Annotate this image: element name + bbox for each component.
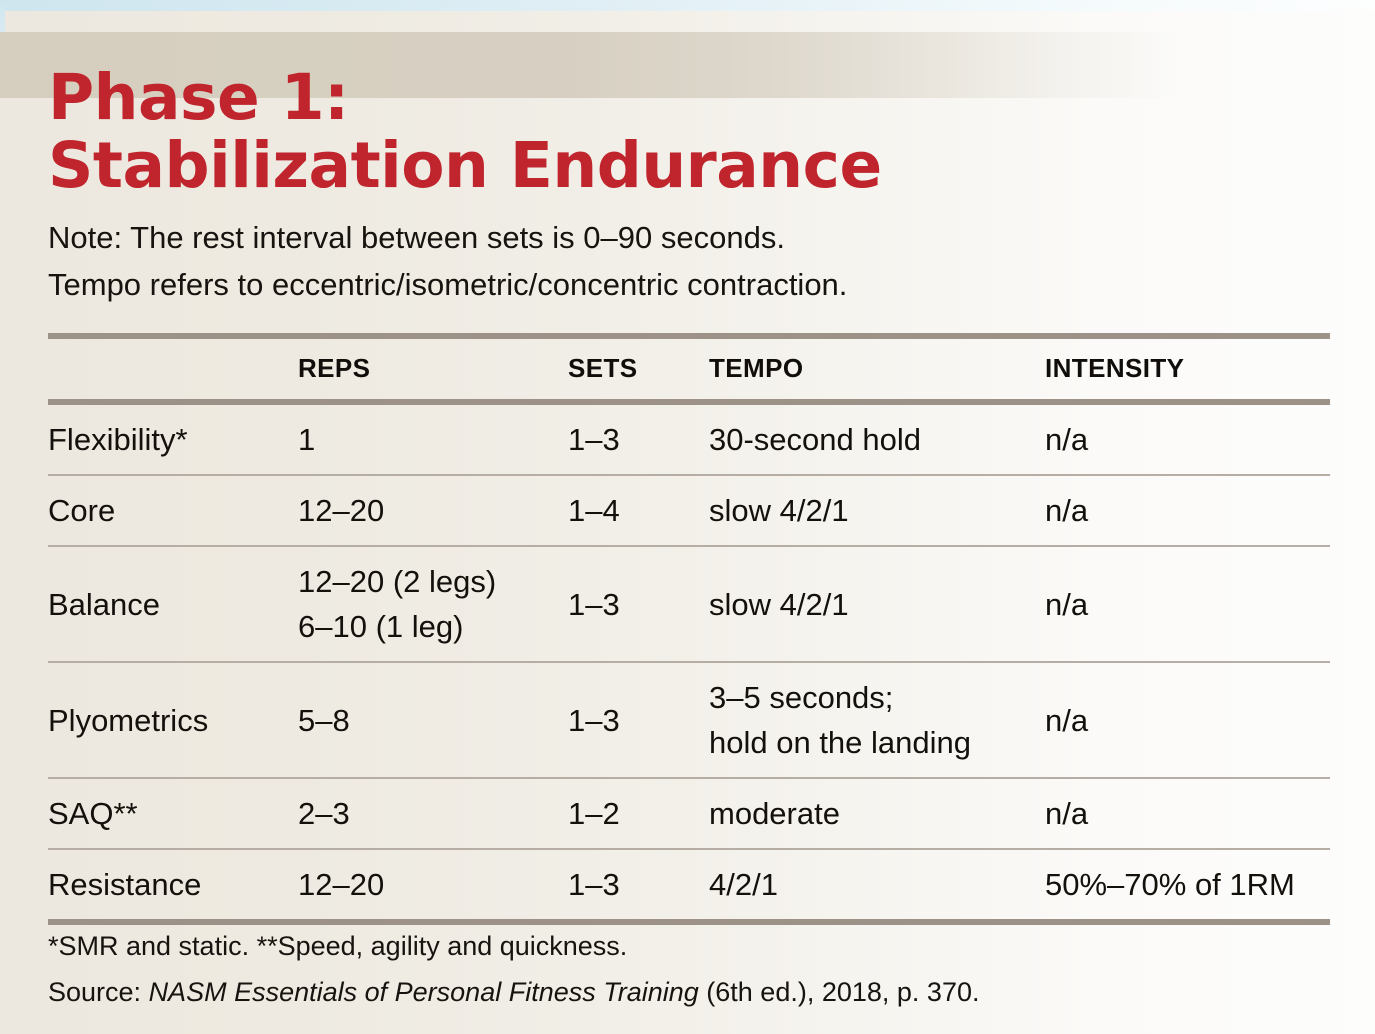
cell-reps-line: 2–3 (298, 791, 568, 836)
cell-intensity: n/a (1045, 475, 1330, 546)
cell-sets: 1–3 (568, 662, 709, 778)
note-line-1: Note: The rest interval between sets is … (48, 214, 1298, 261)
cell-reps-line: 12–20 (2 legs) (298, 559, 568, 604)
column-header-intensity: INTENSITY (1045, 336, 1330, 402)
cell-category: Plyometrics (48, 662, 298, 778)
cell-reps-line: 1 (298, 417, 568, 462)
program-table-wrapper: REPS SETS TEMPO INTENSITY Flexibility* 1… (48, 333, 1330, 925)
cell-category: Core (48, 475, 298, 546)
cell-tempo: 3–5 seconds; hold on the landing (709, 662, 1045, 778)
cell-tempo-line: slow 4/2/1 (709, 582, 1045, 627)
notes-block: Note: The rest interval between sets is … (48, 214, 1298, 308)
title-line-1: Phase 1: (48, 64, 1248, 132)
cell-reps: 1 (298, 402, 568, 475)
cell-tempo-line: moderate (709, 791, 1045, 836)
source-suffix: (6th ed.), 2018, p. 370. (699, 977, 980, 1007)
cell-tempo-line: slow 4/2/1 (709, 488, 1045, 533)
column-header-category (48, 336, 298, 402)
cell-tempo-line: 30-second hold (709, 417, 1045, 462)
cell-intensity: n/a (1045, 778, 1330, 849)
note-line-2: Tempo refers to eccentric/isometric/conc… (48, 261, 1298, 308)
footnotes-block: *SMR and static. **Speed, agility and qu… (48, 923, 1298, 1015)
cell-reps-line: 12–20 (298, 862, 568, 907)
cell-reps: 2–3 (298, 778, 568, 849)
cell-sets: 1–2 (568, 778, 709, 849)
cell-intensity: 50%–70% of 1RM (1045, 849, 1330, 922)
title-line-2: Stabilization Endurance (48, 132, 1248, 200)
cell-reps: 12–20 (298, 849, 568, 922)
cell-intensity: n/a (1045, 402, 1330, 475)
cell-tempo: moderate (709, 778, 1045, 849)
cell-reps-line: 5–8 (298, 698, 568, 743)
cell-reps-line: 6–10 (1 leg) (298, 604, 568, 649)
footnote-legend: *SMR and static. **Speed, agility and qu… (48, 923, 1298, 969)
cell-category: Balance (48, 546, 298, 662)
cell-sets: 1–4 (568, 475, 709, 546)
cell-reps: 12–20 (2 legs) 6–10 (1 leg) (298, 546, 568, 662)
infographic-page: Phase 1: Stabilization Endurance Note: T… (0, 0, 1375, 1034)
cell-reps: 12–20 (298, 475, 568, 546)
table-header: REPS SETS TEMPO INTENSITY (48, 336, 1330, 402)
column-header-reps: REPS (298, 336, 568, 402)
table-body: Flexibility* 1 1–3 30-second hold n/a Co… (48, 402, 1330, 922)
table-row: Flexibility* 1 1–3 30-second hold n/a (48, 402, 1330, 475)
cell-category: Resistance (48, 849, 298, 922)
source-title: NASM Essentials of Personal Fitness Trai… (149, 977, 699, 1007)
table-row: Plyometrics 5–8 1–3 3–5 seconds; hold on… (48, 662, 1330, 778)
column-header-sets: SETS (568, 336, 709, 402)
source-prefix: Source: (48, 977, 149, 1007)
table-row: Balance 12–20 (2 legs) 6–10 (1 leg) 1–3 … (48, 546, 1330, 662)
cell-tempo: slow 4/2/1 (709, 546, 1045, 662)
column-header-tempo: TEMPO (709, 336, 1045, 402)
cell-sets: 1–3 (568, 849, 709, 922)
cell-intensity: n/a (1045, 662, 1330, 778)
cell-tempo: 4/2/1 (709, 849, 1045, 922)
cell-reps-line: 12–20 (298, 488, 568, 533)
cell-tempo-line: 3–5 seconds; (709, 675, 1045, 720)
table-row: Core 12–20 1–4 slow 4/2/1 n/a (48, 475, 1330, 546)
cell-category: Flexibility* (48, 402, 298, 475)
footnote-source: Source: NASM Essentials of Personal Fitn… (48, 969, 1298, 1015)
cell-tempo: slow 4/2/1 (709, 475, 1045, 546)
top-accent-strip (0, 0, 1375, 11)
table-row: SAQ** 2–3 1–2 moderate n/a (48, 778, 1330, 849)
cell-tempo: 30-second hold (709, 402, 1045, 475)
cell-category: SAQ** (48, 778, 298, 849)
table-header-row: REPS SETS TEMPO INTENSITY (48, 336, 1330, 402)
cell-reps: 5–8 (298, 662, 568, 778)
cell-tempo-line: hold on the landing (709, 720, 1045, 765)
cell-sets: 1–3 (568, 546, 709, 662)
cell-sets: 1–3 (568, 402, 709, 475)
cell-tempo-line: 4/2/1 (709, 862, 1045, 907)
table-row: Resistance 12–20 1–3 4/2/1 50%–70% of 1R… (48, 849, 1330, 922)
cell-intensity: n/a (1045, 546, 1330, 662)
page-title: Phase 1: Stabilization Endurance (48, 64, 1248, 200)
program-variables-table: REPS SETS TEMPO INTENSITY Flexibility* 1… (48, 333, 1330, 925)
